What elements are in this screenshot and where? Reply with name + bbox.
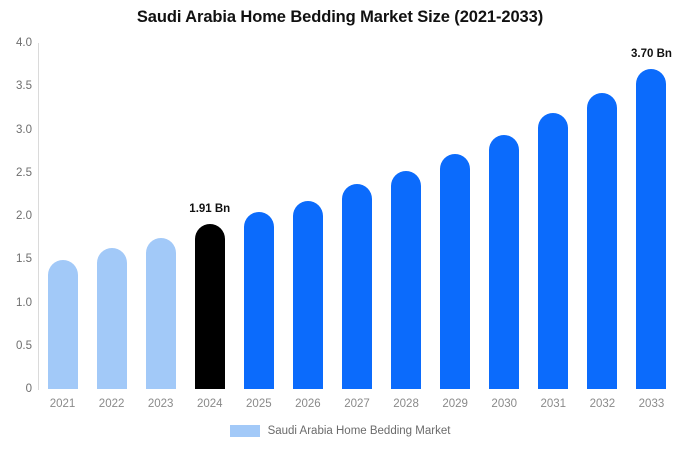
bar-group[interactable] [48,260,78,389]
bar-group[interactable] [538,113,568,389]
x-axis-tick-label: 2031 [529,398,578,410]
bar-group[interactable] [97,248,127,389]
bar[interactable] [342,184,372,389]
bar[interactable] [587,93,617,389]
bar-group[interactable] [244,212,274,389]
bar-chart: Saudi Arabia Home Bedding Market Size (2… [0,0,680,450]
bar[interactable] [195,224,225,389]
bar[interactable] [440,154,470,389]
bar[interactable] [391,171,421,389]
bar-group[interactable] [440,154,470,389]
chart-legend: Saudi Arabia Home Bedding Market [0,425,680,437]
bar-group[interactable] [342,184,372,389]
bar-value-label: 3.70 Bn [631,48,672,60]
x-axis-tick-label: 2033 [627,398,676,410]
legend-swatch-icon [230,425,260,437]
x-axis-tick-label: 2024 [185,398,234,410]
bar[interactable] [293,201,323,389]
bar[interactable] [489,135,519,389]
bar-value-label: 1.91 Bn [189,203,230,215]
x-axis-tick-label: 2022 [87,398,136,410]
bar[interactable] [48,260,78,389]
bar[interactable] [146,238,176,389]
bar[interactable] [97,248,127,389]
x-axis-tick-label: 2032 [578,398,627,410]
x-axis-tick-label: 2030 [480,398,529,410]
bar-group[interactable]: 3.70 Bn [636,69,666,389]
bar-group[interactable] [587,93,617,389]
bar[interactable] [538,113,568,389]
bar-group[interactable]: 1.91 Bn [195,224,225,389]
bar-group[interactable] [489,135,519,389]
bar-group[interactable] [391,171,421,389]
x-axis-tick-label: 2027 [332,398,381,410]
bar[interactable] [244,212,274,389]
x-axis-tick-label: 2025 [234,398,283,410]
x-axis-tick-label: 2023 [136,398,185,410]
bar-group[interactable] [146,238,176,389]
legend-label: Saudi Arabia Home Bedding Market [268,425,451,437]
bar-group[interactable] [293,201,323,389]
x-axis-tick-label: 2029 [431,398,480,410]
x-axis-tick-label: 2021 [38,398,87,410]
bar[interactable] [636,69,666,389]
x-axis-tick-label: 2028 [382,398,431,410]
bars-layer: 2021202220231.91 Bn202420252026202720282… [0,0,680,450]
x-axis-tick-label: 2026 [283,398,332,410]
